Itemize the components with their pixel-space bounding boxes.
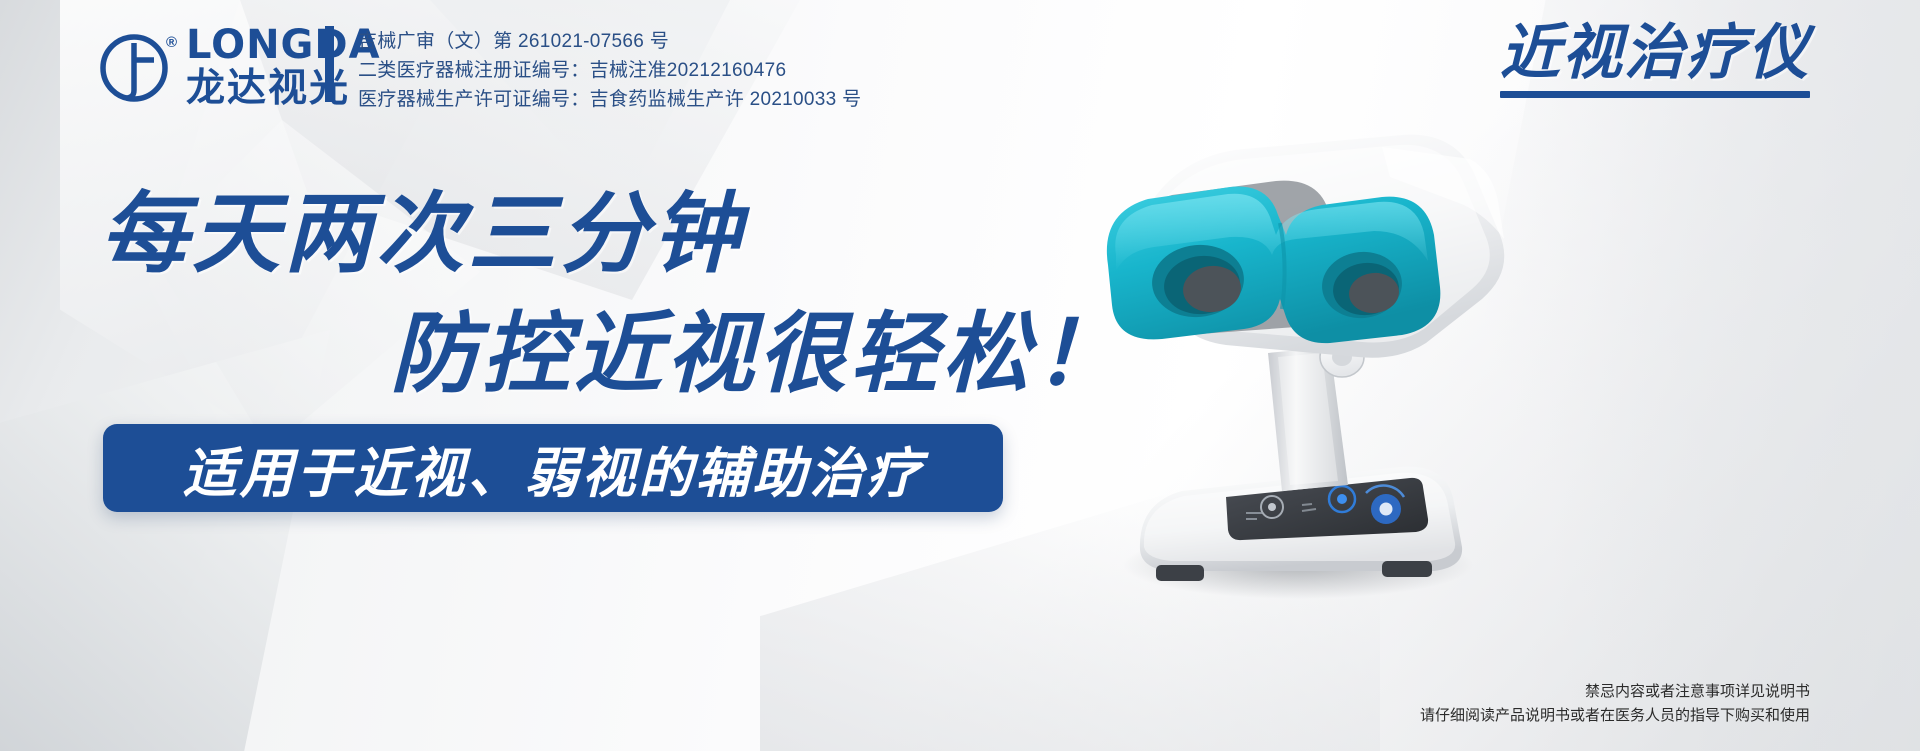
indication-label: 适用于近视、弱视的辅助治疗 [183, 429, 924, 508]
background-shard [0, 330, 330, 751]
brand-wordmark: LONGDA 龙达视光 [186, 25, 381, 108]
product-title: 近视治疗仪 [1500, 22, 1810, 85]
regulatory-line-2: 二类医疗器械注册证编号：吉械注准20212160476 [358, 58, 861, 84]
brand-chinese-name: 龙达视光 [186, 69, 381, 108]
product-image [1030, 95, 1590, 615]
disclaimer-line-2: 请仔细阅读产品说明书或者在医务人员的指导下购买和使用 [1420, 704, 1810, 729]
indication-banner: 适用于近视、弱视的辅助治疗 [103, 424, 1003, 512]
product-title-block: 近视治疗仪 [1500, 22, 1810, 98]
disclaimer-block: 禁忌内容或者注意事项详见说明书 请仔细阅读产品说明书或者在医务人员的指导下购买和… [1420, 680, 1810, 730]
promo-banner: ® LONGDA 龙达视光 吉械广审（文）第 261021-07566 号 二类… [0, 0, 1920, 751]
regulatory-info: 吉械广审（文）第 261021-07566 号 二类医疗器械注册证编号：吉械注准… [358, 29, 861, 114]
registered-trademark-icon: ® [166, 34, 177, 51]
regulatory-line-1: 吉械广审（文）第 261021-07566 号 [358, 29, 861, 55]
longda-circle-mark-icon: ® [100, 30, 174, 104]
background-shard [0, 0, 240, 751]
brand-latin-name: LONGDA [186, 25, 381, 65]
regulatory-line-3: 医疗器械生产许可证编号：吉食药监械生产许 20210033 号 [358, 87, 861, 113]
vertical-divider [325, 26, 334, 102]
headline-primary: 每天两次三分钟 [100, 163, 744, 290]
disclaimer-line-1: 禁忌内容或者注意事项详见说明书 [1420, 680, 1810, 705]
headline-secondary: 防控近视很轻松！ [390, 283, 1126, 410]
brand-logo: ® LONGDA 龙达视光 [100, 25, 381, 108]
